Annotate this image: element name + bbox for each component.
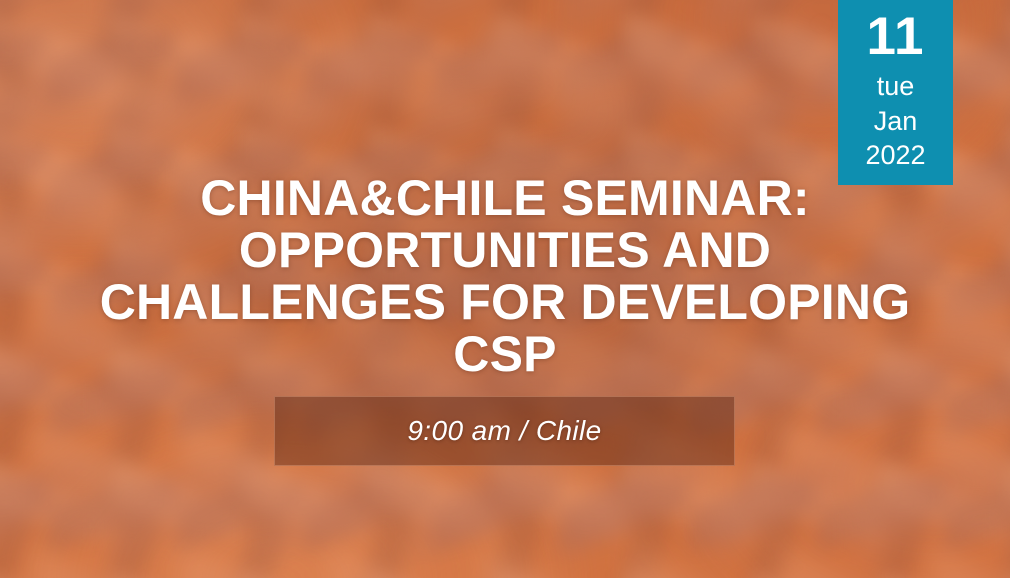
date-badge-year: 2022 bbox=[865, 138, 925, 173]
event-title-line-2: OPPORTUNITIES AND bbox=[18, 224, 992, 276]
date-badge-day: 11 bbox=[866, 10, 924, 63]
event-title: CHINA&CHILE SEMINAR: OPPORTUNITIES AND C… bbox=[0, 172, 1010, 380]
event-banner: 11 tue Jan 2022 CHINA&CHILE SEMINAR: OPP… bbox=[0, 0, 1010, 578]
date-badge: 11 tue Jan 2022 bbox=[838, 0, 953, 185]
event-title-line-3: CHALLENGES FOR DEVELOPING bbox=[18, 276, 992, 328]
event-time-box: 9:00 am / Chile bbox=[274, 396, 735, 466]
date-badge-month: Jan bbox=[874, 104, 918, 139]
date-badge-weekday: tue bbox=[877, 69, 915, 104]
event-title-line-4: CSP bbox=[18, 328, 992, 380]
event-time-label: 9:00 am / Chile bbox=[407, 415, 601, 447]
event-title-line-1: CHINA&CHILE SEMINAR: bbox=[18, 172, 992, 224]
